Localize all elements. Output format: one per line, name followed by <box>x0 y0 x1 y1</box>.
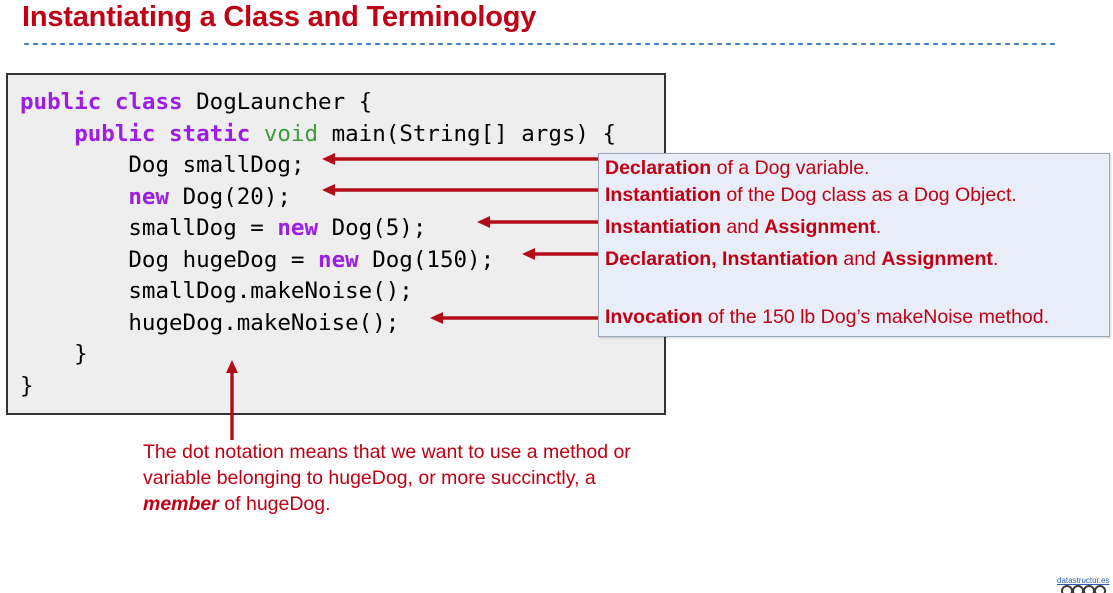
arrow-to-dot-notation <box>224 360 240 440</box>
arrow-to-decl-inst-assign <box>522 246 599 262</box>
arrow-to-declaration <box>322 151 599 167</box>
arrow-to-instantiation-assignment <box>477 214 599 230</box>
code-block: public class DogLauncher { public static… <box>6 73 666 415</box>
annotation-line-instantiation-assignment: Instantiation and Assignment. <box>605 216 881 239</box>
dot-notation-caption: The dot notation means that we want to u… <box>143 439 653 517</box>
annotation-line-invocation: Invocation of the 150 lb Dog’s makeNoise… <box>605 306 1049 329</box>
page-title: Instantiating a Class and Terminology <box>22 1 536 34</box>
annotation-line-declaration-instantiation-assignment: Declaration, Instantiation and Assignmen… <box>605 248 998 271</box>
footer-link[interactable]: datastructur.es <box>1057 576 1109 585</box>
annotation-callout: Declaration of a Dog variable. Instantia… <box>598 153 1110 337</box>
annotation-line-instantiation: Instantiation of the Dog class as a Dog … <box>605 184 1017 207</box>
title-divider <box>22 42 1058 46</box>
annotation-line-declaration: Declaration of a Dog variable. <box>605 157 869 180</box>
site-logo-icon <box>1061 585 1107 593</box>
arrow-to-invocation <box>430 310 599 326</box>
arrow-to-instantiation <box>322 182 599 198</box>
code-listing: public class DogLauncher { public static… <box>20 87 616 402</box>
